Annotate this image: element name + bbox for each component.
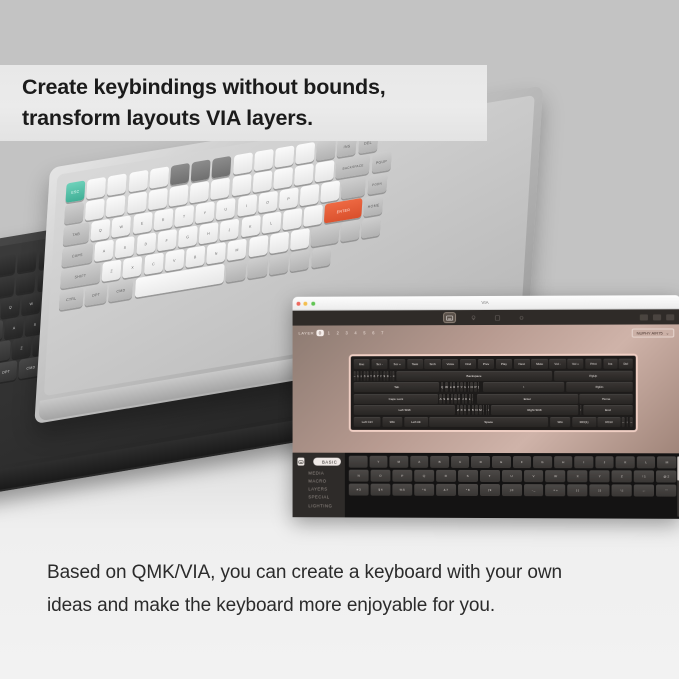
key-4-white — [148, 188, 168, 211]
vk-esc[interactable]: Esc — [354, 359, 370, 369]
key-pgup-white: PGUP — [371, 150, 391, 173]
vk-row-q: Tab Q W E R T Y U I O P [ ] \ PgDn — [354, 382, 633, 392]
key-j-white: J — [220, 218, 240, 241]
vk-k[interactable]: K — [465, 394, 467, 404]
key-f8-white — [233, 152, 253, 175]
palette-key[interactable]: K — [616, 456, 635, 468]
vk-quote[interactable]: ' — [475, 394, 476, 404]
window-title: VIA — [293, 299, 679, 306]
vk-lwin[interactable]: Win — [382, 417, 402, 427]
key-0-white — [273, 167, 293, 190]
vk-backslash[interactable]: \ — [483, 382, 564, 392]
vk-u[interactable]: U — [464, 382, 466, 392]
key-opt-black: OPT — [0, 360, 18, 383]
vk-b[interactable]: B — [472, 405, 474, 415]
vk-comma[interactable]: , — [483, 405, 484, 415]
key-esc-white: ESC — [65, 180, 85, 203]
key-l-white: L — [261, 211, 281, 234]
palette-key[interactable]: M — [657, 456, 676, 468]
palette-key[interactable]: R — [436, 470, 456, 482]
key-y-white: Y — [195, 201, 215, 224]
palette-key[interactable]: V — [524, 470, 544, 482]
vk-1[interactable]: 1 — [357, 371, 359, 381]
vk-minus[interactable]: - — [390, 371, 391, 381]
key-7-white — [210, 177, 230, 200]
key-up-white — [341, 219, 361, 242]
vk-equal[interactable]: = — [393, 371, 395, 381]
key-9-white — [252, 170, 272, 193]
toolbar-extra-3[interactable] — [666, 314, 674, 320]
layer-button-6[interactable]: 6 — [370, 330, 376, 335]
key-3-white — [127, 191, 147, 214]
key-1-black — [0, 275, 15, 298]
save-icon[interactable] — [491, 313, 502, 322]
key-u-white: U — [216, 198, 236, 221]
key-opt-white: OPT — [85, 283, 108, 306]
key-w-black: W — [22, 292, 42, 315]
page-title: Create keybindings without bounds, trans… — [22, 72, 492, 134]
toolbar-extra-2[interactable] — [653, 314, 661, 320]
vk-o[interactable]: O — [470, 382, 472, 392]
vk-lctrl[interactable]: Left Ctrl — [354, 417, 381, 427]
key-f7-white — [212, 156, 232, 179]
vk-space[interactable]: Space — [429, 417, 548, 427]
vk-s[interactable]: S — [443, 394, 445, 404]
vk-4[interactable]: 4 — [367, 371, 369, 381]
vk-play[interactable]: Play — [496, 359, 512, 369]
palette-key[interactable]: - _ — [524, 484, 544, 496]
vk-l[interactable]: L — [469, 394, 471, 404]
key-slash-white — [290, 228, 310, 251]
key-lbracket-white — [300, 184, 320, 207]
palette-key[interactable]: X — [568, 470, 588, 482]
palette-key[interactable]: W — [546, 470, 566, 482]
vk-end[interactable]: End — [583, 405, 633, 415]
palette-key[interactable]: @ 2 — [656, 470, 676, 482]
sidebar-item-media[interactable]: MEDIA — [297, 469, 340, 477]
layer-button-2[interactable]: 2 — [335, 330, 341, 335]
vk-e[interactable]: E — [450, 382, 452, 392]
vk-mo1[interactable]: MO(1) — [572, 417, 596, 427]
palette-key[interactable]: $ 4 — [371, 484, 391, 496]
key-f3-white — [128, 170, 148, 193]
vk-z[interactable]: Z — [457, 405, 459, 415]
product-feature-image: ESC — [0, 0, 679, 679]
via-body: LAYER 0 1 2 3 4 5 6 7 NUPHY AIR75 ⌄ Esc … — [293, 324, 679, 518]
vk-row-num: ~ 1 2 3 4 5 6 7 8 9 0 - = Backspace PgUp — [354, 370, 633, 380]
vk-lalt[interactable]: Left Alt — [404, 417, 428, 427]
vk-3[interactable]: 3 — [364, 371, 366, 381]
vk-n[interactable]: N — [475, 405, 477, 415]
palette-key[interactable]: # 3 — [349, 484, 369, 496]
key-grave-white — [64, 202, 84, 225]
key-b-white: B — [185, 245, 205, 268]
layer-button-7[interactable]: 7 — [379, 330, 385, 335]
via-app-window[interactable]: VIA LAYER 0 1 — [293, 295, 679, 519]
key-v-white: V — [164, 249, 184, 272]
palette-key[interactable]: O — [371, 470, 391, 482]
vk-pgup[interactable]: PgUp — [554, 370, 633, 380]
key-5-white — [169, 184, 189, 207]
vk-f[interactable]: F — [451, 394, 453, 404]
vk-w[interactable]: W — [445, 382, 448, 392]
headline-line-2: transform layouts VIA layers. — [22, 103, 492, 134]
key-rcmd-white — [225, 260, 246, 283]
key-6-white — [190, 181, 210, 204]
vk-row-mod: Left Ctrl Win Left Alt Space Win MO(1) R… — [354, 417, 633, 427]
layer-button-5[interactable]: 5 — [361, 330, 367, 335]
vk-5[interactable]: 5 — [370, 371, 372, 381]
key-r-white: R — [153, 208, 173, 231]
palette-key[interactable]: C — [451, 456, 470, 468]
key-p-white: P — [279, 187, 299, 210]
vk-m[interactable]: M — [479, 405, 482, 415]
keycap-picker-panel: BASIC MEDIA MACRO LAYERS SPECIAL LIGHTIN… — [293, 453, 679, 519]
key-equal-white — [315, 160, 335, 183]
key-rbracket-white — [320, 180, 340, 203]
key-8-white — [231, 174, 251, 197]
caption-line-1: Based on QMK/VIA, you can create a keybo… — [47, 556, 647, 589]
palette-row: N O P Q R S T U V W X Y Z ! 1 @ — [349, 470, 676, 483]
vk-i[interactable]: I — [468, 382, 469, 392]
vk-home[interactable]: Home — [580, 394, 633, 404]
vk-q[interactable]: Q — [441, 382, 443, 392]
key-q-white: Q — [91, 219, 111, 242]
toolbar-extra-1[interactable] — [640, 314, 648, 320]
vk-pgdn[interactable]: PgDn — [566, 382, 633, 392]
keyboard-icon — [297, 458, 304, 466]
palette-key[interactable]: L — [637, 456, 656, 468]
vk-r[interactable]: R — [453, 382, 455, 392]
palette-key[interactable]: T — [480, 470, 500, 482]
vk-lshift[interactable]: Left Shift — [354, 405, 456, 415]
palette-key[interactable]: = + — [546, 484, 566, 496]
palette-key[interactable]: ) 0 — [502, 484, 522, 496]
vk-srch[interactable]: Srch — [425, 359, 441, 369]
key-semicolon-white — [282, 208, 302, 231]
key-left-white — [269, 253, 289, 276]
palette-key[interactable]: [ { — [568, 484, 588, 496]
palette-row: # 3 $ 4 % 5 ^ 6 & 7 * 8 ( 9 ) 0 - _ = + … — [349, 484, 676, 497]
vk-2[interactable]: 2 — [360, 371, 362, 381]
vk-0[interactable]: 0 — [387, 371, 389, 381]
vk-rwin[interactable]: Win — [550, 417, 571, 427]
headline-line-1: Create keybindings without bounds, — [22, 72, 492, 103]
window-titlebar[interactable]: VIA — [293, 295, 679, 311]
vk-6[interactable]: 6 — [374, 371, 376, 381]
vk-7[interactable]: 7 — [377, 371, 379, 381]
key-z-black: Z — [12, 336, 32, 359]
vk-task[interactable]: Task — [407, 359, 423, 369]
layer-button-0[interactable]: 0 — [317, 330, 323, 335]
key-f5-white — [170, 163, 190, 186]
vk-dnd[interactable]: Dnd — [460, 359, 476, 369]
key-f11-white — [295, 142, 315, 165]
sidebar-item-special[interactable]: SPECIAL — [297, 493, 340, 501]
palette-key[interactable]: & 7 — [436, 484, 456, 496]
vk-c[interactable]: C — [464, 405, 466, 415]
vk-print[interactable]: Print — [585, 359, 601, 369]
vk-8[interactable]: 8 — [380, 371, 382, 381]
vk-v[interactable]: V — [468, 405, 470, 415]
settings-icon[interactable] — [516, 313, 527, 322]
palette-key[interactable]: G — [533, 456, 552, 468]
key-f1-black — [0, 254, 16, 277]
keyboard-select-label: NUPHY AIR75 — [636, 330, 662, 335]
key-minus-white — [294, 163, 314, 186]
palette-key[interactable]: ; : — [634, 484, 654, 496]
key-comma-white — [248, 235, 268, 258]
key-ropt-white — [247, 256, 268, 279]
key-n-white: N — [206, 242, 226, 265]
layer-label: LAYER — [298, 331, 314, 336]
key-w-white: W — [112, 215, 132, 238]
key-f2-black — [17, 250, 37, 273]
vk-vol-up[interactable]: Vol + — [567, 359, 583, 369]
key-f2-white — [107, 173, 127, 196]
key-d-white: D — [136, 232, 156, 255]
key-h-white: H — [199, 222, 219, 245]
vk-9[interactable]: 9 — [383, 371, 385, 381]
vk-period[interactable]: . — [486, 405, 487, 415]
key-f4-white — [149, 166, 169, 189]
caption-line-2: ideas and make the keyboard more enjoyab… — [47, 589, 647, 622]
vk-arrow-right[interactable]: → — [630, 417, 633, 427]
vk-rshift[interactable]: Right Shift — [491, 405, 579, 415]
vk-grave[interactable]: ~ — [354, 371, 356, 381]
key-pgdn-white: PGDN — [367, 172, 387, 195]
key-k-white: K — [240, 215, 260, 238]
key-a-black: A — [4, 316, 24, 339]
palette-key[interactable]: ' " — [656, 485, 676, 497]
vk-next[interactable]: Next — [514, 359, 530, 369]
vk-arrow-up[interactable]: ↑ — [580, 405, 582, 415]
layer-button-3[interactable]: 3 — [344, 330, 350, 335]
vk-j[interactable]: J — [462, 394, 464, 404]
palette-key[interactable]: Y — [369, 456, 387, 468]
layer-selector[interactable]: LAYER 0 1 2 3 4 5 6 7 — [298, 330, 385, 335]
palette-key[interactable]: D — [471, 456, 490, 468]
vk-row-a: Caps Lock A S D F G H J K L ; ' Enter Ho… — [354, 394, 633, 404]
key-t-white: T — [174, 205, 194, 228]
key-f10-white — [274, 145, 294, 168]
vk-y[interactable]: Y — [461, 382, 463, 392]
vk-scr-up[interactable]: Scr + — [389, 359, 405, 369]
via-toolbar[interactable] — [293, 309, 679, 325]
palette-key[interactable]: N — [349, 470, 369, 482]
vk-semicolon[interactable]: ; — [472, 394, 473, 404]
key-m-white: M — [227, 238, 247, 261]
palette-key[interactable]: H — [554, 456, 573, 468]
key-f6-white — [191, 159, 211, 182]
vk-scr-down[interactable]: Scr - — [371, 359, 387, 369]
page-caption: Based on QMK/VIA, you can create a keybo… — [47, 556, 647, 622]
key-q-black: Q — [1, 296, 21, 319]
key-f-white: F — [157, 229, 177, 252]
key-g-white: G — [178, 225, 198, 248]
vk-rctrl[interactable]: RCtrl — [598, 417, 620, 427]
vk-ins[interactable]: Ins — [603, 359, 617, 369]
keyboard-icon[interactable] — [444, 313, 455, 322]
vk-enter[interactable]: Enter — [477, 394, 578, 404]
key-c-white: C — [144, 252, 164, 275]
vk-h[interactable]: H — [458, 394, 460, 404]
key-end-white — [361, 216, 381, 239]
vk-rbracket[interactable]: ] — [481, 382, 482, 392]
palette-key[interactable]: I — [574, 456, 593, 468]
key-f1-white — [86, 177, 106, 200]
key-i-white: I — [237, 194, 257, 217]
vk-t[interactable]: T — [457, 382, 459, 392]
palette-key[interactable]: U — [502, 470, 522, 482]
key-f9-white — [254, 149, 274, 172]
keycap-palette[interactable]: Y M A B C D E F G H I J K L M — [345, 453, 679, 519]
vk-del[interactable]: Del — [619, 359, 633, 369]
palette-key[interactable]: * 8 — [458, 484, 478, 496]
key-period-white — [269, 231, 289, 254]
palette-key[interactable]: B — [430, 456, 448, 468]
sidebar-item-layers[interactable]: LAYERS — [297, 485, 340, 493]
vk-mute[interactable]: Mute — [531, 359, 547, 369]
palette-key[interactable]: % 5 — [392, 484, 412, 496]
palette-key[interactable]: Z — [612, 470, 632, 482]
vk-row-fn: Esc Scr - Scr + Task Srch Voice Dnd Prev… — [354, 359, 633, 369]
key-z-white: Z — [102, 259, 122, 282]
key-2-white — [106, 195, 126, 218]
palette-key[interactable]: M — [390, 456, 408, 468]
key-o-white: O — [258, 191, 278, 214]
sidebar-item-basic[interactable]: BASIC — [314, 458, 341, 466]
palette-key[interactable]: Q — [414, 470, 434, 482]
key-1-white — [85, 198, 105, 221]
key-f12-white — [316, 138, 336, 161]
palette-key[interactable]: A — [410, 456, 428, 468]
lightbulb-icon[interactable] — [468, 313, 479, 322]
layer-button-1[interactable]: 1 — [326, 330, 332, 335]
palette-key[interactable]: E — [492, 456, 511, 468]
vk-prev[interactable]: Prev — [478, 359, 494, 369]
palette-key[interactable] — [349, 456, 367, 468]
vk-row-z: Left Shift Z X C V B N M , . / Right Shi… — [354, 405, 633, 415]
palette-key[interactable]: Y — [590, 470, 610, 482]
virtual-keyboard-preview[interactable]: Esc Scr - Scr + Task Srch Voice Dnd Prev… — [349, 354, 638, 432]
vk-caps[interactable]: Caps Lock — [354, 394, 438, 404]
key-down-white — [290, 249, 310, 272]
key-home-white: HOME — [364, 194, 384, 217]
palette-key[interactable]: ! 1 — [634, 470, 654, 482]
vk-lbracket[interactable]: [ — [478, 382, 479, 392]
vk-slash[interactable]: / — [488, 405, 489, 415]
key-s-white: S — [115, 236, 135, 259]
sidebar-header: BASIC — [297, 458, 340, 466]
toolbar-right-controls[interactable] — [640, 314, 674, 320]
vk-a[interactable]: A — [440, 394, 442, 404]
vk-vol-down[interactable]: Vol - — [549, 359, 565, 369]
palette-key[interactable]: F — [513, 456, 532, 468]
palette-key[interactable]: \ | — [612, 484, 632, 496]
vk-voice[interactable]: Voice — [442, 359, 458, 369]
palette-key[interactable]: J — [595, 456, 614, 468]
vk-arrow-down[interactable]: ↓ — [626, 417, 628, 427]
palette-key[interactable]: ^ 6 — [414, 484, 434, 496]
layer-button-4[interactable]: 4 — [353, 330, 359, 335]
vk-backspace[interactable]: Backspace — [396, 370, 552, 380]
palette-row: Y M A B C D E F G H I J K L M — [349, 456, 676, 469]
vk-arrow-left[interactable]: ← — [622, 417, 625, 427]
palette-key[interactable]: ] } — [590, 484, 610, 496]
key-a-white: A — [94, 239, 114, 262]
vk-p[interactable]: P — [474, 382, 476, 392]
palette-key[interactable]: P — [392, 470, 412, 482]
sidebar-item-macro[interactable]: MACRO — [297, 477, 340, 485]
palette-key[interactable]: ( 9 — [480, 484, 500, 496]
key-quote-white — [303, 204, 323, 227]
sidebar-item-lighting[interactable]: LIGHTING — [297, 501, 340, 509]
key-e-white: E — [132, 212, 152, 235]
key-x-white: X — [123, 256, 143, 279]
vk-g[interactable]: G — [454, 394, 456, 404]
key-right-white — [311, 246, 331, 269]
vk-x[interactable]: X — [461, 405, 463, 415]
chevron-down-icon: ⌄ — [666, 330, 669, 335]
keyboard-select-dropdown[interactable]: NUPHY AIR75 ⌄ — [631, 328, 674, 337]
category-sidebar[interactable]: BASIC MEDIA MACRO LAYERS SPECIAL LIGHTIN… — [293, 453, 345, 519]
vk-tab[interactable]: Tab — [354, 382, 440, 392]
palette-key[interactable]: S — [458, 470, 478, 482]
vk-d[interactable]: D — [447, 394, 449, 404]
key-2-black — [16, 272, 36, 295]
